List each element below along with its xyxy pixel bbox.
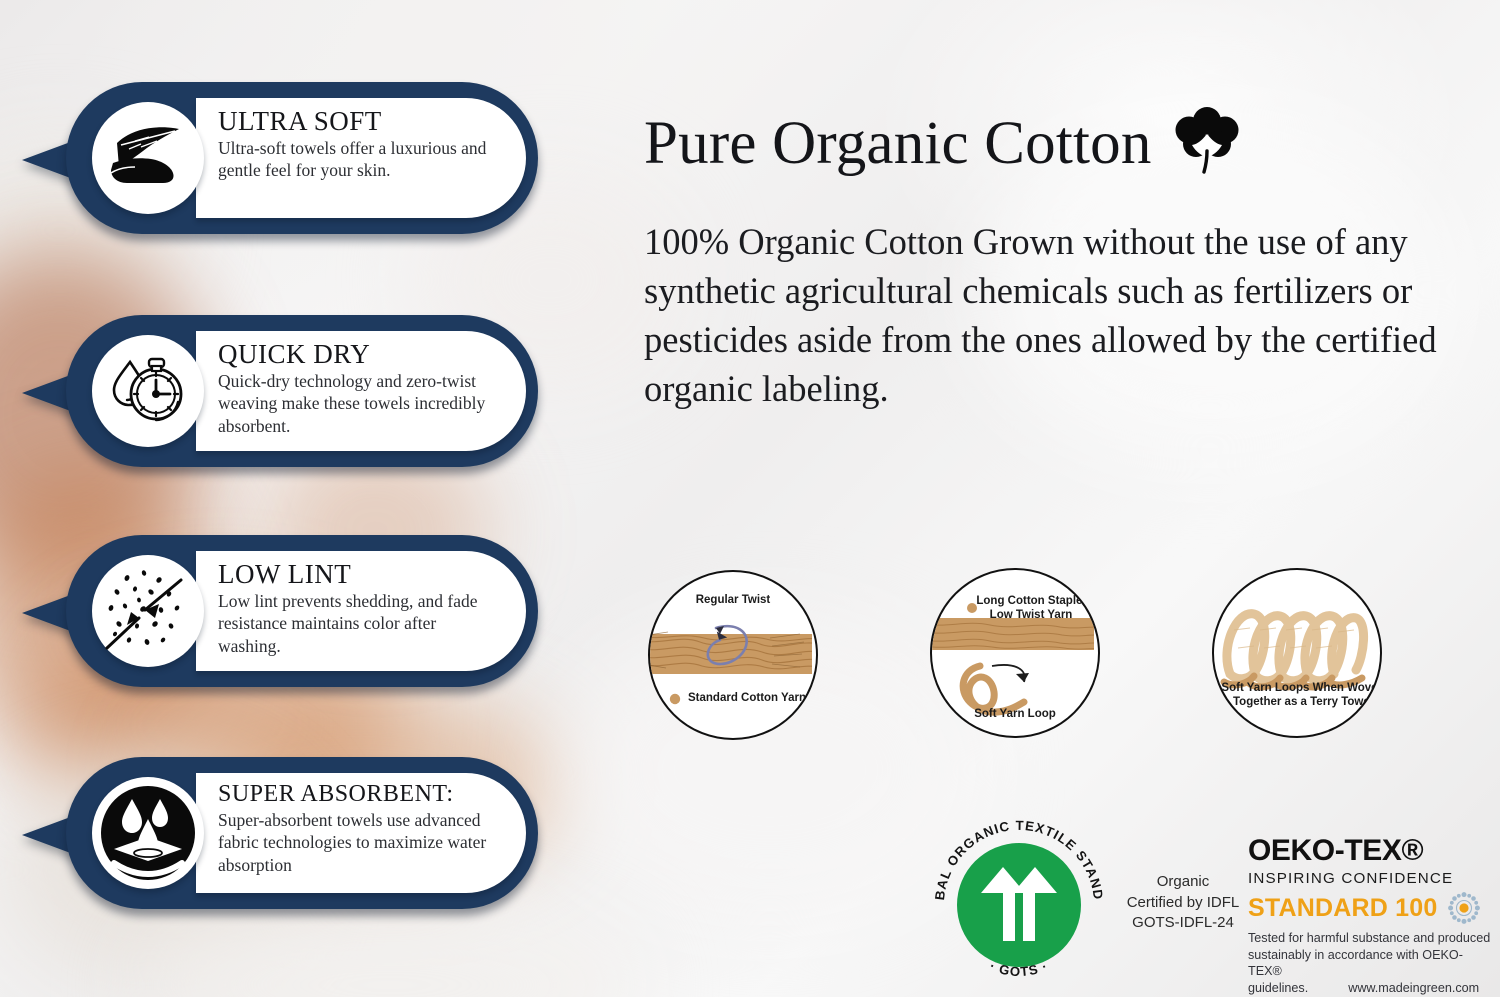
- fine-line-3: guidelines.: [1248, 980, 1308, 997]
- hero-paragraph: 100% Organic Cotton Grown without the us…: [644, 218, 1484, 414]
- fine-line-2: sustainably in accordance with OEKO-TEX®: [1248, 947, 1494, 980]
- feature-card-quick-dry: QUICK DRY Quick-dry technology and zero-…: [14, 315, 538, 467]
- feature-description: Low lint prevents shedding, and fade res…: [218, 590, 500, 657]
- oeko-tex-subtitle: INSPIRING CONFIDENCE: [1248, 870, 1496, 887]
- hero-headline-row: Pure Organic Cotton: [644, 104, 1244, 183]
- feather-in-hand-icon: [92, 102, 204, 214]
- gots-certificate-caption: Organic Certified by IDFL GOTS-IDFL-24: [1108, 872, 1258, 934]
- feature-title: LOW LINT: [218, 560, 500, 588]
- feature-card-super-absorbent: SUPER ABSORBENT: Super-absorbent towels …: [14, 757, 538, 909]
- oeko-tex-certification: OEKO-TEX® INSPIRING CONFIDENCE STANDARD …: [1248, 836, 1496, 997]
- right-content: Pure Organic Cotton 100% Organic Cotton …: [630, 0, 1500, 997]
- madeingreen-url: www.madeingreen.com: [1348, 980, 1479, 997]
- yarn-bottom-label: Soft Yarn Loops When Woven Together as a…: [1214, 682, 1382, 710]
- oeko-tex-standard-row: STANDARD 100: [1248, 891, 1496, 925]
- cotton-boll-icon: [1170, 104, 1244, 183]
- yarn-bottom-label: Standard Cotton Yarn: [650, 692, 818, 706]
- feature-title: QUICK DRY: [218, 340, 500, 368]
- fine-line-1: Tested for harmful substance and produce…: [1248, 930, 1494, 947]
- oeko-tex-fine-print: Tested for harmful substance and produce…: [1248, 930, 1494, 997]
- madeingreen-sunburst-icon: [1447, 891, 1481, 925]
- cert-line-organic: Organic: [1108, 872, 1258, 893]
- card-text-panel: LOW LINT Low lint prevents shedding, and…: [196, 551, 526, 671]
- oeko-tex-standard: STANDARD 100: [1248, 894, 1437, 923]
- water-absorption-fabric-icon: [92, 777, 204, 889]
- feature-description: Quick-dry technology and zero-twist weav…: [218, 370, 500, 437]
- yarn-bottom-label: Soft Yarn Loop: [932, 708, 1098, 722]
- card-text-panel: ULTRA SOFT Ultra-soft towels offer a lux…: [196, 98, 526, 218]
- cert-line-certified-by: Certified by IDFL: [1108, 893, 1258, 914]
- feature-description: Ultra-soft towels offer a luxurious and …: [218, 137, 500, 182]
- cert-line-license: GOTS-IDFL-24: [1108, 913, 1258, 934]
- feature-card-ultra-soft: ULTRA SOFT Ultra-soft towels offer a lux…: [14, 82, 538, 234]
- page-title: Pure Organic Cotton: [644, 113, 1152, 174]
- yarn-diagram-group: Regular Twist Standard Cotton Yarn: [630, 560, 1500, 760]
- water-drop-stopwatch-icon: [92, 335, 204, 447]
- gots-shirt-arrows-icon: [973, 859, 1065, 951]
- card-text-panel: SUPER ABSORBENT: Super-absorbent towels …: [196, 773, 526, 893]
- infographic-page: ULTRA SOFT Ultra-soft towels offer a lux…: [0, 0, 1500, 997]
- certification-group: GLOBAL ORGANIC TEXTILE STANDARD · GOTS ·…: [630, 806, 1500, 996]
- yarn-diagram-regular-twist: Regular Twist Standard Cotton Yarn: [648, 570, 818, 740]
- yarn-top-label: Long Cotton Staple, Low Twist Yarn: [932, 595, 1100, 623]
- card-text-panel: QUICK DRY Quick-dry technology and zero-…: [196, 331, 526, 451]
- yarn-diagram-terry-loops: Soft Yarn Loops When Woven Together as a…: [1212, 568, 1382, 738]
- yarn-top-label: Regular Twist: [650, 594, 816, 608]
- feature-title: SUPER ABSORBENT:: [218, 782, 500, 807]
- gots-green-disc: [957, 843, 1081, 967]
- feature-card-list: ULTRA SOFT Ultra-soft towels offer a lux…: [0, 0, 600, 997]
- yarn-diagram-low-twist: Long Cotton Staple, Low Twist Yarn Soft …: [930, 568, 1100, 738]
- feature-title: ULTRA SOFT: [218, 107, 500, 135]
- feature-card-low-lint: LOW LINT Low lint prevents shedding, and…: [14, 535, 538, 687]
- gots-certification-logo: GLOBAL ORGANIC TEXTILE STANDARD · GOTS ·: [930, 816, 1108, 994]
- oeko-tex-title: OEKO-TEX®: [1248, 836, 1496, 866]
- lint-particles-arrows-icon: [92, 555, 204, 667]
- feature-description: Super-absorbent towels use advanced fabr…: [218, 809, 500, 876]
